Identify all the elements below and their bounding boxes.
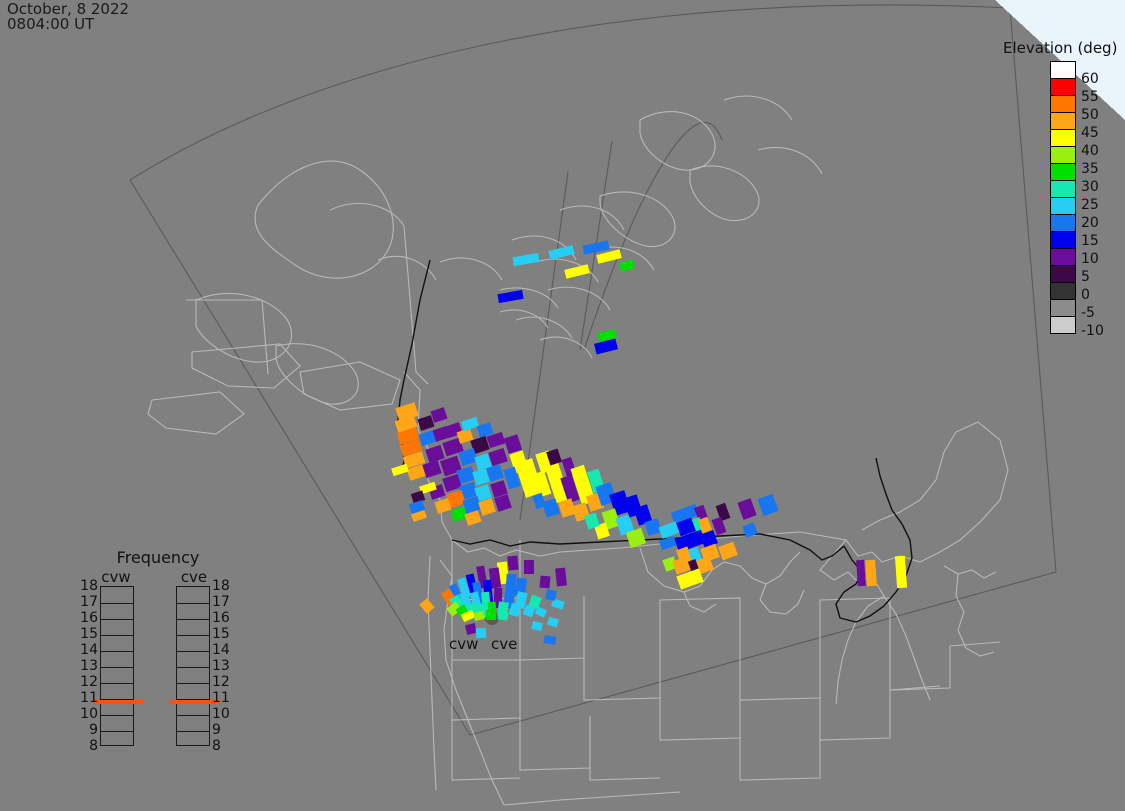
frequency-scale-label: 13 — [212, 659, 230, 673]
frequency-scale-label: 17 — [212, 595, 230, 609]
frequency-scale-label: 12 — [212, 675, 230, 689]
frequency-tick — [101, 731, 133, 732]
radar-map-figure: October, 8 2022 0804:00 UT Elevation (de… — [0, 0, 1125, 811]
frequency-tick — [177, 635, 209, 636]
frequency-tick — [177, 667, 209, 668]
frequency-tick — [101, 683, 133, 684]
frequency-scale-label: 16 — [80, 611, 98, 625]
echo-cell — [497, 290, 523, 303]
colorbar-swatch — [1050, 78, 1076, 96]
echo-cell — [555, 568, 567, 587]
echo-cell — [430, 407, 447, 423]
timestamp-time: 0804:00 UT — [7, 17, 129, 32]
colorbar-swatch — [1050, 231, 1076, 249]
frequency-scale-label: 17 — [80, 595, 98, 609]
colorbar-tick-label: 45 — [1081, 124, 1121, 142]
frequency-tick — [177, 715, 209, 716]
colorbar-title: Elevation (deg) — [1003, 39, 1117, 57]
colorbar-tick-labels: 605550454035302520151050-5-10 — [1081, 61, 1121, 331]
frequency-tick — [101, 715, 133, 716]
colorbar-tick-label: 10 — [1081, 250, 1121, 268]
echo-cell — [564, 264, 589, 279]
frequency-column-cve: cve18171615141312111098 — [164, 568, 224, 746]
frequency-scale-label: 10 — [212, 707, 230, 721]
echo-cell — [596, 249, 621, 264]
timestamp: October, 8 2022 0804:00 UT — [7, 2, 129, 32]
echo-cell — [543, 635, 556, 645]
frequency-tick — [101, 667, 133, 668]
echo-cell — [509, 603, 522, 617]
frequency-scale-label: 9 — [212, 723, 221, 737]
echo-cell — [422, 460, 442, 478]
colorbar-tick-label: 5 — [1081, 268, 1121, 286]
echo-cell — [545, 589, 557, 601]
echo-cell — [737, 498, 756, 520]
frequency-scale-label: 16 — [212, 611, 230, 625]
echo-cell — [464, 510, 481, 526]
frequency-scale-label: 15 — [212, 627, 230, 641]
frequency-scale-label: 18 — [212, 579, 230, 593]
echo-cell — [494, 494, 512, 512]
map-site-label: cvw — [449, 635, 478, 653]
echo-cell — [497, 611, 508, 620]
frequency-marker — [93, 700, 143, 704]
colorbar-tick-label: 20 — [1081, 214, 1121, 232]
echo-cell — [419, 598, 434, 614]
colorbar-swatch — [1050, 129, 1076, 147]
frequency-legend: Frequency cvw18171615141312111098cve1817… — [78, 548, 238, 768]
frequency-scale-label: 10 — [80, 707, 98, 721]
echo-cell — [742, 522, 757, 537]
colorbar-swatch — [1050, 316, 1076, 334]
colorbar-swatch — [1050, 180, 1076, 198]
echo-cell — [539, 576, 550, 589]
echo-cell — [531, 621, 543, 631]
frequency-tick — [177, 619, 209, 620]
echo-cell — [718, 542, 738, 561]
colorbar-tick-label: 50 — [1081, 106, 1121, 124]
echo-cell — [473, 611, 484, 621]
frequency-scale-label: 12 — [80, 675, 98, 689]
colorbar-tick-label: 0 — [1081, 286, 1121, 304]
colorbar-tick-label: -5 — [1081, 304, 1121, 322]
colorbar-swatch — [1050, 95, 1076, 113]
frequency-tick — [101, 619, 133, 620]
colorbar-swatch — [1050, 282, 1076, 300]
frequency-scale-label: 13 — [80, 659, 98, 673]
frequency-scale-label: 14 — [212, 643, 230, 657]
frequency-scale-label: 11 — [80, 691, 98, 705]
echo-cell — [486, 612, 496, 620]
echo-cell — [548, 245, 574, 260]
frequency-tick — [177, 731, 209, 732]
echo-cell — [512, 253, 539, 266]
frequency-column-cvw: cvw18171615141312111098 — [86, 568, 146, 746]
echo-cell — [619, 259, 635, 271]
echo-cell — [535, 606, 547, 618]
frequency-scale-label: 8 — [212, 739, 221, 753]
colorbar-swatch — [1050, 248, 1076, 266]
colorbar-swatch — [1050, 163, 1076, 181]
frequency-legend-title: Frequency — [78, 548, 238, 567]
colorbar-swatch — [1050, 214, 1076, 232]
elevation-colorbar — [1050, 61, 1076, 333]
frequency-scale-label: 8 — [89, 739, 98, 753]
frequency-tick — [101, 635, 133, 636]
echo-cell — [626, 528, 646, 548]
frequency-scale-label: 14 — [80, 643, 98, 657]
colorbar-tick-label: -10 — [1081, 322, 1121, 340]
colorbar-swatch — [1050, 299, 1076, 317]
colorbar-swatch — [1050, 265, 1076, 283]
frequency-scale-label: 9 — [89, 723, 98, 737]
colorbar-swatch — [1050, 61, 1076, 79]
echo-cell — [524, 560, 534, 574]
colorbar-tick-label: 15 — [1081, 232, 1121, 250]
colorbar-tick-label: 30 — [1081, 178, 1121, 196]
frequency-scale-box — [176, 586, 210, 746]
frequency-tick — [177, 651, 209, 652]
colorbar-swatch — [1050, 112, 1076, 130]
echo-cell — [757, 494, 778, 516]
frequency-scale-box — [100, 586, 134, 746]
echo-cell — [486, 464, 504, 482]
frequency-scale-label: 11 — [212, 691, 230, 705]
colorbar-tick-label: 35 — [1081, 160, 1121, 178]
frequency-tick — [177, 683, 209, 684]
colorbar-tick-label: 40 — [1081, 142, 1121, 160]
colorbar-tick-label: 60 — [1081, 70, 1121, 88]
frequency-scale-label: 15 — [80, 627, 98, 641]
frequency-scale-label: 18 — [80, 579, 98, 593]
frequency-tick — [177, 603, 209, 604]
echo-cell — [478, 498, 496, 516]
map-site-label: cve — [491, 635, 517, 653]
colorbar-swatch — [1050, 197, 1076, 215]
echo-cell — [594, 339, 618, 355]
echo-cell — [507, 556, 518, 571]
frequency-tick — [101, 603, 133, 604]
frequency-tick — [101, 651, 133, 652]
colorbar-tick-label: 55 — [1081, 88, 1121, 106]
echo-cell — [547, 617, 559, 627]
echo-cell — [895, 556, 907, 589]
echo-cell — [865, 560, 877, 587]
colorbar-swatch — [1050, 146, 1076, 164]
colorbar-tick-label: 25 — [1081, 196, 1121, 214]
echo-cell — [391, 464, 409, 477]
